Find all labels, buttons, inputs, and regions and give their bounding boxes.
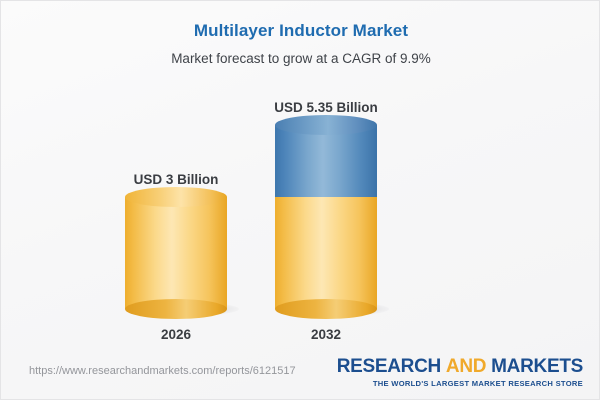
brand-logo-wordmark: RESEARCH AND MARKETS — [337, 357, 583, 377]
bar-segment-body — [125, 197, 227, 309]
report-url-link[interactable]: https://www.researchandmarkets.com/repor… — [29, 365, 296, 377]
market-infographic: Multilayer Inductor Market Market foreca… — [0, 0, 600, 400]
brand-word-research: RESEARCH — [337, 356, 441, 377]
bar-cylinder-2026[interactable] — [125, 197, 227, 309]
bar-cylinder-2032[interactable] — [275, 125, 377, 309]
brand-word-and: AND — [446, 356, 486, 377]
bar-cap-bottom-icon — [275, 299, 377, 319]
bar-segment-body — [275, 125, 377, 197]
category-label-2026: 2026 — [106, 327, 246, 342]
chart-plot-area: USD 3 Billion 2026 USD 5.35 Billion — [1, 1, 600, 349]
brand-tagline: THE WORLD'S LARGEST MARKET RESEARCH STOR… — [337, 377, 583, 388]
bar-cap-top-icon — [275, 115, 377, 135]
bar-cap-bottom-icon — [125, 299, 227, 319]
bar-value-label-2026: USD 3 Billion — [106, 172, 246, 187]
footer: https://www.researchandmarkets.com/repor… — [1, 347, 600, 399]
brand-logo[interactable]: RESEARCH AND MARKETS THE WORLD'S LARGEST… — [337, 357, 583, 388]
bar-value-label-2032: USD 5.35 Billion — [256, 100, 396, 115]
brand-word-markets: MARKETS — [491, 356, 583, 377]
bar-cap-top-icon — [125, 187, 227, 207]
bar-segment-base-2026 — [125, 197, 227, 309]
bar-segment-body — [275, 197, 377, 309]
bar-segment-growth-2032 — [275, 125, 377, 197]
bar-segment-base-2032 — [275, 197, 377, 309]
category-label-2032: 2032 — [256, 327, 396, 342]
